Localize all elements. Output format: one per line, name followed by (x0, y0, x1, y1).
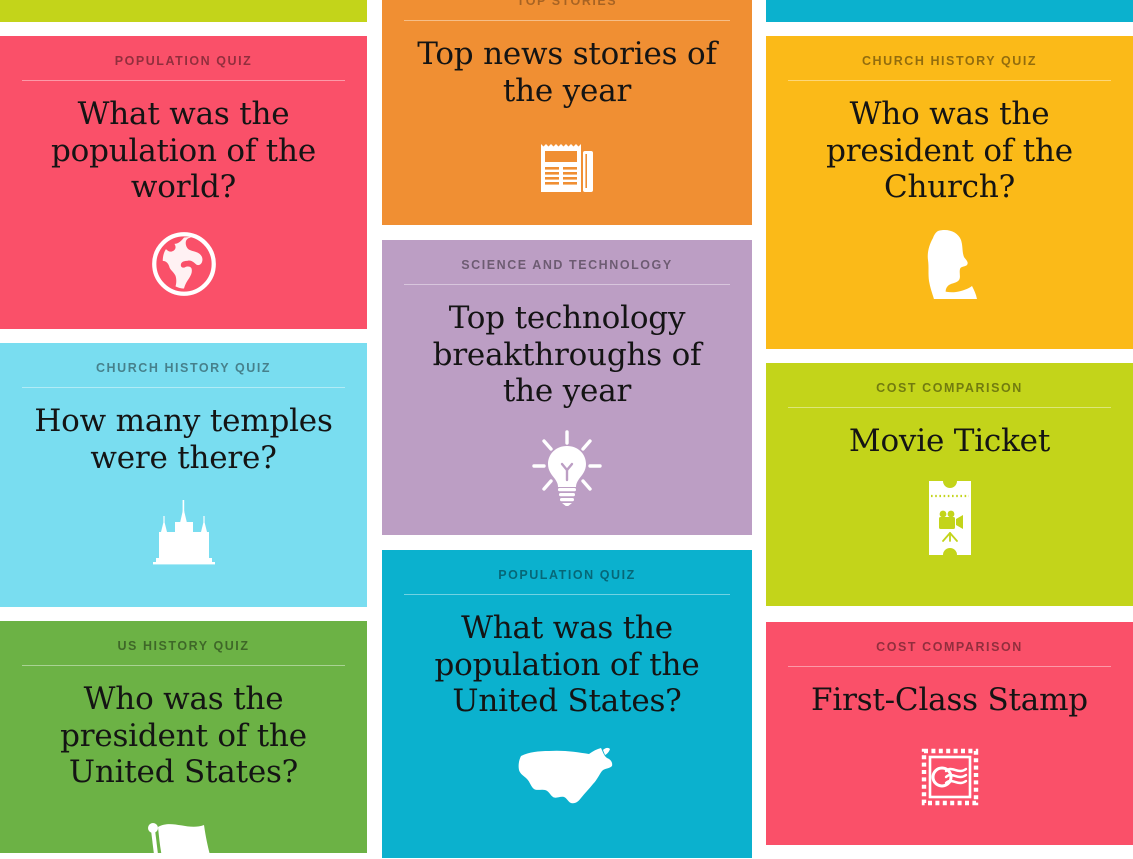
card-divider (404, 594, 730, 595)
newspaper-icon (404, 129, 730, 205)
card-eyebrow: SCIENCE AND TECHNOLOGY (404, 258, 730, 284)
flag-icon (22, 811, 345, 853)
card-eyebrow: POPULATION QUIZ (404, 568, 730, 594)
card-title: Top news stories of the year (404, 29, 730, 109)
column-middle: TOP STORIES Top news stories of the year (382, 0, 752, 858)
globe-icon (22, 226, 345, 302)
card-title: What was the population of the world? (22, 89, 345, 206)
card-lime-sliver[interactable] (0, 0, 367, 22)
card-divider (22, 665, 345, 666)
card-eyebrow: COST COMPARISON (788, 381, 1111, 407)
card-tech-breakthroughs[interactable]: SCIENCE AND TECHNOLOGY Top technology br… (382, 240, 752, 535)
temple-icon (22, 496, 345, 572)
card-title: Movie Ticket (788, 416, 1111, 460)
card-church-president[interactable]: CHURCH HISTORY QUIZ Who was the presiden… (766, 36, 1133, 349)
card-teal-sliver[interactable] (766, 0, 1133, 22)
card-title: First-Class Stamp (788, 675, 1111, 719)
card-divider (788, 407, 1111, 408)
lightbulb-icon (404, 430, 730, 506)
card-title: What was the population of the United St… (404, 603, 730, 720)
card-temples-count[interactable]: CHURCH HISTORY QUIZ How many temples wer… (0, 343, 367, 607)
postage-stamp-icon (788, 739, 1111, 815)
card-eyebrow: TOP STORIES (404, 0, 730, 20)
card-divider (788, 666, 1111, 667)
card-title: Who was the president of the United Stat… (22, 674, 345, 791)
card-eyebrow: CHURCH HISTORY QUIZ (788, 54, 1111, 80)
card-movie-ticket[interactable]: COST COMPARISON Movie Ticket (766, 363, 1133, 606)
column-left: POPULATION QUIZ What was the population … (0, 0, 367, 853)
card-divider (22, 80, 345, 81)
card-divider (22, 387, 345, 388)
card-us-population[interactable]: POPULATION QUIZ What was the population … (382, 550, 752, 858)
profile-bust-icon (788, 226, 1111, 302)
card-us-president[interactable]: US HISTORY QUIZ Who was the president of… (0, 621, 367, 853)
card-title: Top technology breakthroughs of the year (404, 293, 730, 410)
card-divider (788, 80, 1111, 81)
card-top-news-stories[interactable]: TOP STORIES Top news stories of the year (382, 0, 752, 225)
card-title: Who was the president of the Church? (788, 89, 1111, 206)
movie-ticket-icon (788, 480, 1111, 556)
card-divider (404, 20, 730, 21)
card-eyebrow: POPULATION QUIZ (22, 54, 345, 80)
card-eyebrow: US HISTORY QUIZ (22, 639, 345, 665)
column-right: CHURCH HISTORY QUIZ Who was the presiden… (766, 0, 1133, 859)
usa-map-icon (404, 740, 730, 816)
card-title: How many temples were there? (22, 396, 345, 476)
card-eyebrow: CHURCH HISTORY QUIZ (22, 361, 345, 387)
card-world-population[interactable]: POPULATION QUIZ What was the population … (0, 36, 367, 329)
card-grid-board: POPULATION QUIZ What was the population … (0, 0, 1133, 859)
card-eyebrow: COST COMPARISON (788, 640, 1111, 666)
card-first-class-stamp[interactable]: COST COMPARISON First-Class Stamp (766, 622, 1133, 845)
card-divider (404, 284, 730, 285)
